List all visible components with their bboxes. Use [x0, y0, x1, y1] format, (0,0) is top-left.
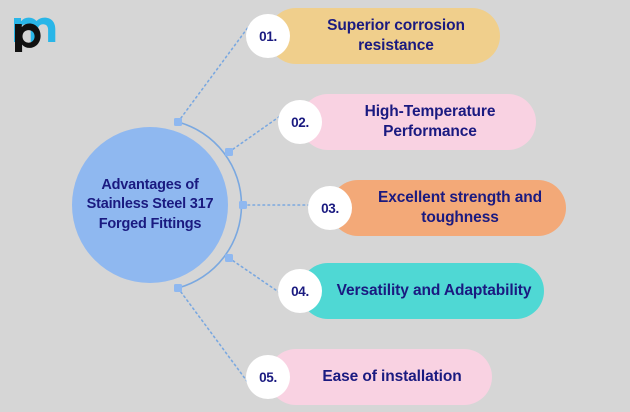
- item-number-05: 05.: [259, 370, 277, 385]
- brand-logo: [10, 8, 62, 52]
- connector-line-01: [178, 22, 252, 122]
- brand-logo-icon: [10, 8, 62, 52]
- item-label-01: Superior corrosion resistance: [268, 16, 500, 56]
- list-item[interactable]: Superior corrosion resistance 01.: [268, 8, 500, 64]
- connector-line-05: [178, 288, 252, 388]
- infographic-canvas: Advantages of Stainless Steel 317 Forged…: [0, 0, 630, 412]
- connector-node-04: [225, 254, 233, 262]
- list-item[interactable]: High-Temperature Performance 02.: [300, 94, 536, 150]
- list-item[interactable]: Versatility and Adaptability 04.: [300, 263, 544, 319]
- list-item[interactable]: Excellent strength and toughness 03.: [330, 180, 566, 236]
- item-label-02: High-Temperature Performance: [300, 102, 536, 142]
- central-topic-circle: Advantages of Stainless Steel 317 Forged…: [72, 127, 228, 283]
- item-pill-02[interactable]: High-Temperature Performance: [300, 94, 536, 150]
- item-label-05: Ease of installation: [288, 367, 471, 387]
- item-pill-03[interactable]: Excellent strength and toughness: [330, 180, 566, 236]
- item-number-01: 01.: [259, 29, 277, 44]
- item-number-02: 02.: [291, 115, 309, 130]
- central-topic-label: Advantages of Stainless Steel 317 Forged…: [72, 176, 228, 234]
- item-label-04: Versatility and Adaptability: [303, 281, 542, 301]
- connector-node-02: [225, 148, 233, 156]
- item-badge-04[interactable]: 04.: [278, 269, 322, 313]
- connector-node-05: [174, 284, 182, 292]
- list-item[interactable]: Ease of installation 05.: [268, 349, 492, 405]
- connector-node-03: [239, 201, 247, 209]
- item-badge-03[interactable]: 03.: [308, 186, 352, 230]
- connector-node-01: [174, 118, 182, 126]
- item-badge-02[interactable]: 02.: [278, 100, 322, 144]
- item-badge-05[interactable]: 05.: [246, 355, 290, 399]
- item-pill-04[interactable]: Versatility and Adaptability: [300, 263, 544, 319]
- item-label-03: Excellent strength and toughness: [330, 188, 566, 228]
- item-badge-01[interactable]: 01.: [246, 14, 290, 58]
- item-number-03: 03.: [321, 201, 339, 216]
- item-pill-05[interactable]: Ease of installation: [268, 349, 492, 405]
- item-number-04: 04.: [291, 284, 309, 299]
- item-pill-01[interactable]: Superior corrosion resistance: [268, 8, 500, 64]
